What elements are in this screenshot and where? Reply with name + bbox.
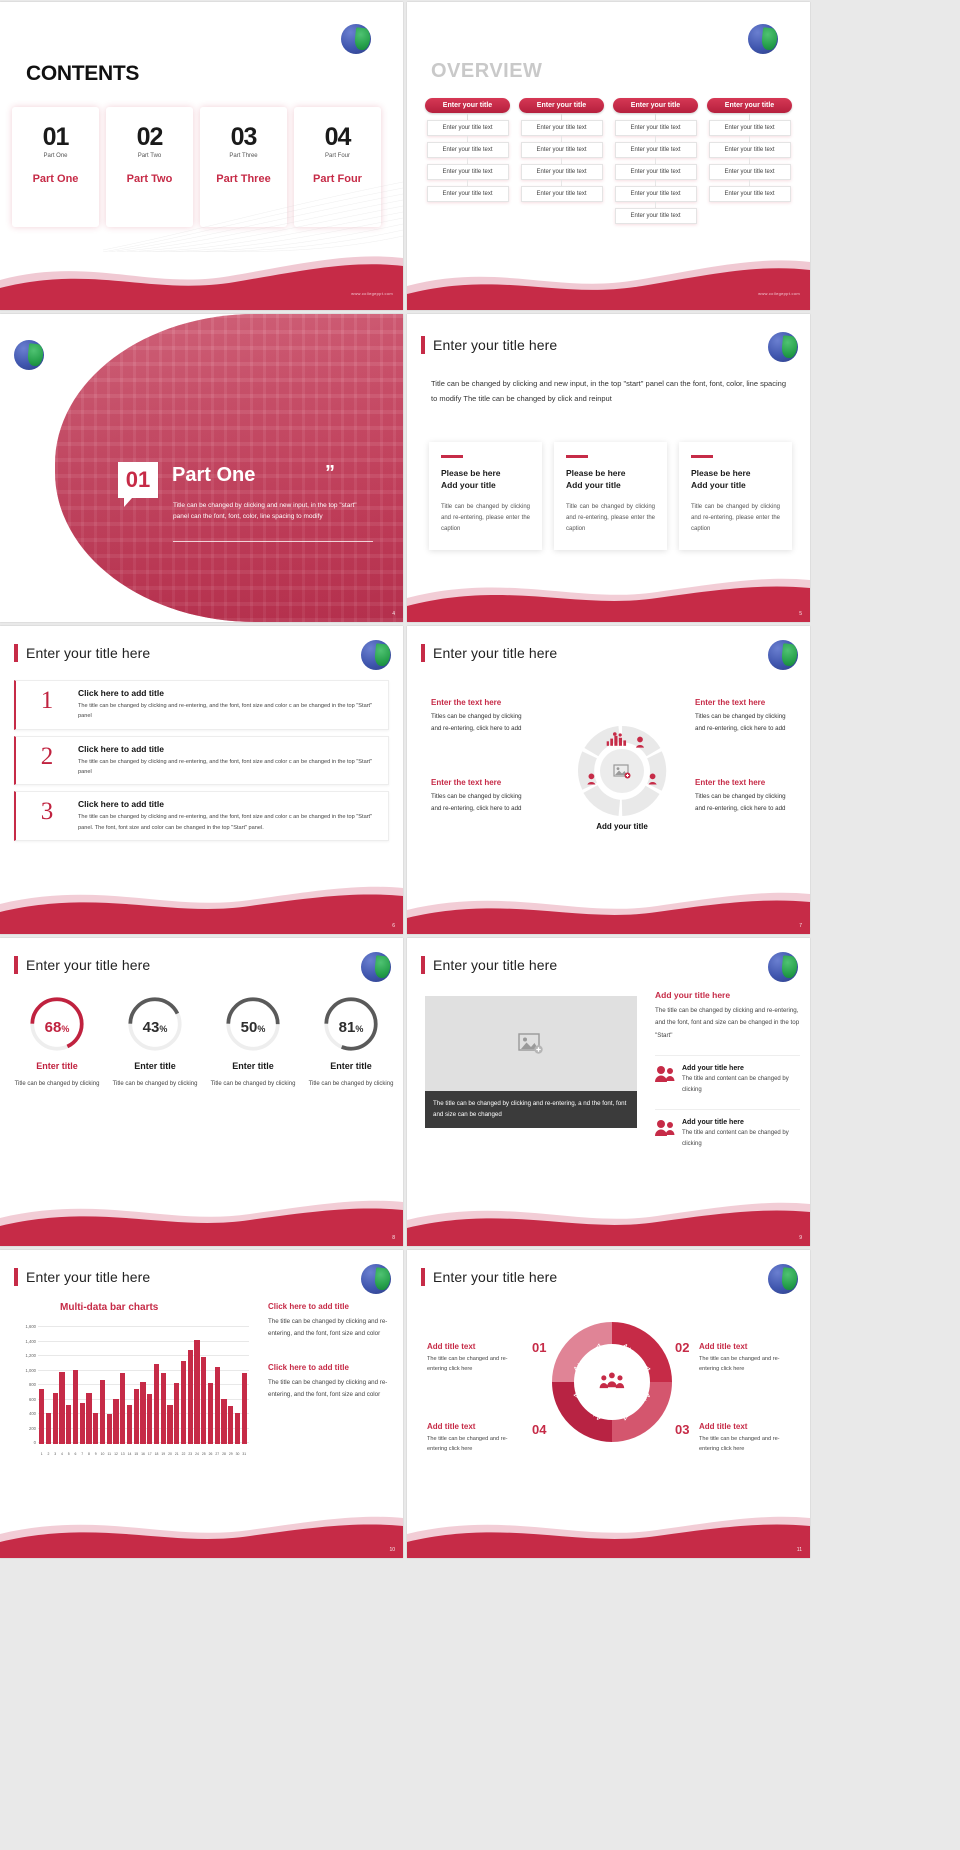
slide-cycle-diagram[interactable]: Enter your title here Add title text The… [407, 1250, 810, 1558]
card-heading-line-1: Please be here [566, 467, 655, 479]
x-tick-label: 20 [167, 1452, 172, 1456]
bar [228, 1406, 233, 1444]
overview-item[interactable]: Enter your title text [615, 120, 697, 136]
donut-chart [323, 996, 379, 1052]
bar [107, 1414, 112, 1444]
section-description: Title can be changed by clicking and new… [173, 500, 368, 523]
section-heading: Part One [172, 464, 255, 487]
overview-item[interactable]: Enter your title text [427, 120, 509, 136]
list-item[interactable]: 3 Click here to add title The title can … [14, 791, 389, 841]
bar [93, 1413, 98, 1444]
item-body: The title and content can be changed by … [682, 1074, 800, 1096]
x-tick-label: 9 [93, 1452, 98, 1456]
label-heading: Enter the text here [431, 698, 531, 707]
cycle-label-03[interactable]: Add title text The title can be changed … [699, 1422, 791, 1455]
x-tick-label: 14 [127, 1452, 132, 1456]
bar [113, 1399, 118, 1444]
bar [167, 1405, 172, 1444]
page-title: Enter your title here [421, 1268, 557, 1286]
card-subtitle: Part Two [106, 153, 193, 159]
page-number: 7 [799, 923, 802, 929]
bar [39, 1389, 44, 1444]
x-tick-label: 6 [73, 1452, 78, 1456]
bar-series [39, 1328, 247, 1444]
y-tick-label: 1,200 [14, 1353, 36, 1358]
right-column: Click here to add title The title can be… [268, 1302, 393, 1402]
contents-card[interactable]: 01 Part One Part One [12, 107, 99, 227]
overview-item[interactable]: Enter your title text [521, 164, 603, 180]
card-accent-dash [441, 455, 463, 458]
brand-logo-icon [14, 340, 44, 370]
overview-item[interactable]: Enter your title text [615, 186, 697, 202]
y-tick-label: 0 [14, 1440, 36, 1445]
info-card[interactable]: Please be here Add your title Title can … [679, 442, 792, 550]
x-tick-label: 19 [161, 1452, 166, 1456]
title-text: Enter your title here [26, 957, 150, 973]
overview-column: Enter your title Enter your title text E… [707, 98, 792, 224]
page-number: 5 [799, 611, 802, 617]
page-number: 11 [797, 1547, 802, 1553]
footer-wave [0, 1182, 403, 1246]
x-tick-label: 3 [53, 1452, 58, 1456]
label-heading: Add title text [427, 1422, 519, 1431]
overview-item[interactable]: Enter your title text [615, 208, 697, 224]
column-pill-button[interactable]: Enter your title [613, 98, 698, 113]
slide-percent-donuts[interactable]: Enter your title here 68 % Enter title T… [0, 938, 403, 1246]
bar-chart[interactable]: 1,6001,4001,2001,0008006004002000 123456… [14, 1326, 249, 1456]
x-tick-label: 29 [228, 1452, 233, 1456]
cycle-label-01[interactable]: Add title text The title can be changed … [427, 1342, 519, 1375]
donut-title: Enter title [106, 1061, 204, 1071]
bar [161, 1373, 166, 1444]
ring-center-label: Add your title [577, 822, 667, 831]
page-number: 8 [392, 1235, 395, 1241]
x-tick-label: 15 [134, 1452, 139, 1456]
page-title: Enter your title here [14, 644, 150, 662]
donut-title: Enter title [8, 1061, 106, 1071]
lead-paragraph: Title can be changed by clicking and new… [431, 376, 786, 406]
card-accent-dash [691, 455, 713, 458]
label-heading: Enter the text here [695, 778, 795, 787]
x-tick-label: 25 [201, 1452, 206, 1456]
ring-label-bottom-left: Enter the text here Titles can be change… [431, 778, 531, 816]
card-heading-line-1: Please be here [441, 467, 530, 479]
row-number: 1 [16, 688, 78, 713]
x-tick-label: 1 [39, 1452, 44, 1456]
slide-deck: CONTENTS 01 Part One Part One 02 Part Tw… [0, 0, 960, 1558]
donut-list: 68 % Enter title Title can be changed by… [8, 996, 400, 1090]
card-body: Title can be changed by clicking and re-… [691, 502, 780, 535]
x-tick-label: 5 [66, 1452, 71, 1456]
overview-column: Enter your title Enter your title text E… [613, 98, 698, 224]
x-tick-label: 22 [181, 1452, 186, 1456]
overview-item[interactable]: Enter your title text [615, 164, 697, 180]
overview-item[interactable]: Enter your title text [709, 120, 791, 136]
slide-numbered-list[interactable]: Enter your title here 1 Click here to ad… [0, 626, 403, 934]
slide-section-part-one[interactable]: 01 Part One ” Title can be changed by cl… [0, 314, 403, 622]
x-tick-label: 2 [46, 1452, 51, 1456]
column-pill-button[interactable]: Enter your title [707, 98, 792, 113]
overview-item[interactable]: Enter your title text [427, 164, 509, 180]
overview-item[interactable]: Enter your title text [521, 120, 603, 136]
cycle-number-04: 04 [532, 1422, 546, 1437]
label-body: The title can be changed and re-entering… [699, 1354, 791, 1375]
overview-column: Enter your title Enter your title text E… [519, 98, 604, 224]
overview-item[interactable]: Enter your title text [709, 142, 791, 158]
donut-title: Enter title [204, 1061, 302, 1071]
divider [173, 541, 373, 542]
x-tick-label: 28 [221, 1452, 226, 1456]
right-heading: Click here to add title [268, 1363, 393, 1372]
gridline [38, 1326, 249, 1327]
row-number: 2 [16, 744, 78, 769]
footer-url: www.collegeppt.com [758, 291, 800, 296]
label-body: Titles can be changed by clicking and re… [431, 791, 531, 816]
info-card[interactable]: Please be here Add your title Title can … [429, 442, 542, 550]
x-tick-label: 26 [208, 1452, 213, 1456]
footer-wave [407, 1494, 810, 1558]
column-pill-button[interactable]: Enter your title [519, 98, 604, 113]
x-tick-label: 18 [154, 1452, 159, 1456]
cycle-number-01: 01 [532, 1340, 546, 1355]
brand-logo-icon [768, 952, 798, 982]
overview-columns: Enter your title Enter your title text E… [425, 98, 792, 224]
page-number: 4 [392, 611, 395, 617]
overview-item[interactable]: Enter your title text [427, 142, 509, 158]
bar [59, 1372, 64, 1445]
bar [154, 1364, 159, 1444]
x-tick-label: 13 [120, 1452, 125, 1456]
title-accent-bar [14, 1268, 18, 1286]
donut-title: Enter title [302, 1061, 400, 1071]
card-heading-line-2: Add your title [441, 479, 530, 491]
cycle-label-02[interactable]: Add title text The title can be changed … [699, 1342, 791, 1375]
x-tick-label: 17 [147, 1452, 152, 1456]
row-body: The title can be changed by clicking and… [78, 812, 380, 833]
label-body: The title can be changed and re-entering… [699, 1434, 791, 1455]
bar [181, 1361, 186, 1444]
slide-three-cards[interactable]: Enter your title here Title can be chang… [407, 314, 810, 622]
footer-wave [407, 1182, 810, 1246]
title-accent-bar [14, 644, 18, 662]
card-subtitle: Part One [12, 153, 99, 159]
donut-desc: Title can be changed by clicking [302, 1079, 400, 1090]
x-tick-label: 7 [80, 1452, 85, 1456]
overview-item[interactable]: Enter your title text [709, 186, 791, 202]
bar [66, 1405, 71, 1444]
donut-desc: Title can be changed by clicking [106, 1079, 204, 1090]
footer-wave [0, 1494, 403, 1558]
y-tick-label: 800 [14, 1382, 36, 1387]
bar [194, 1340, 199, 1444]
person-icon [655, 1119, 675, 1150]
overview-item[interactable]: Enter your title text [521, 142, 603, 158]
donut-item[interactable]: 50 % Enter title Title can be changed by… [204, 996, 302, 1090]
brand-logo-icon [341, 24, 371, 54]
donut-item[interactable]: 68 % Enter title Title can be changed by… [8, 996, 106, 1090]
label-body: Titles can be changed by clicking and re… [695, 711, 795, 736]
picture-icon [518, 1033, 544, 1055]
ring-label-top-right: Enter the text here Titles can be change… [695, 698, 795, 736]
x-axis-ticks: 1234567891011121314151617181920212223242… [39, 1452, 247, 1456]
title-accent-bar [421, 644, 425, 662]
bar [100, 1380, 105, 1444]
bar [80, 1403, 85, 1444]
column-pill-button[interactable]: Enter your title [425, 98, 510, 113]
page-title: Enter your title here [421, 956, 557, 974]
page-number: 9 [799, 1235, 802, 1241]
footer-wave [407, 870, 810, 934]
label-heading: Add title text [427, 1342, 519, 1351]
card-number: 04 [294, 125, 381, 150]
label-body: The title can be changed and re-entering… [427, 1354, 519, 1375]
brand-logo-icon [361, 952, 391, 982]
right-body: The title can be changed by clicking and… [268, 1377, 393, 1402]
chart-title: Multi-data bar charts [60, 1302, 158, 1313]
bar [86, 1393, 91, 1444]
footer-wave [407, 246, 810, 310]
right-body: The title can be changed by clicking and… [655, 1005, 800, 1042]
title-text: Enter your title here [26, 645, 150, 661]
title-accent-bar [421, 956, 425, 974]
item-title: Add your title here [682, 1065, 800, 1072]
bar [134, 1389, 139, 1444]
label-heading: Enter the text here [695, 698, 795, 707]
cycle-label-04[interactable]: Add title text The title can be changed … [427, 1422, 519, 1455]
bar [188, 1350, 193, 1444]
row-title: Click here to add title [78, 799, 380, 809]
label-body: Titles can be changed by clicking and re… [431, 711, 531, 736]
right-heading: Click here to add title [268, 1302, 393, 1311]
right-column: Add your title here The title can be cha… [655, 990, 800, 1149]
x-tick-label: 12 [113, 1452, 118, 1456]
overview-item[interactable]: Enter your title text [521, 186, 603, 202]
page-title: OVERVIEW [431, 60, 542, 83]
slide-bar-chart[interactable]: Enter your title here Multi-data bar cha… [0, 1250, 403, 1558]
person-icon [655, 1065, 675, 1096]
row-body: The title can be changed by clicking and… [78, 757, 380, 778]
x-tick-label: 24 [194, 1452, 199, 1456]
item-title: Add your title here [682, 1119, 800, 1126]
donut-chart [29, 996, 85, 1052]
page-title: Enter your title here [421, 336, 557, 354]
x-tick-label: 27 [215, 1452, 220, 1456]
ring-label-bottom-right: Enter the text here Titles can be change… [695, 778, 795, 816]
brand-logo-icon [361, 1264, 391, 1294]
ring-chart[interactable] [577, 726, 667, 816]
donut-chart [225, 996, 281, 1052]
numbered-row-list: 1 Click here to add title The title can … [14, 680, 389, 847]
donut-desc: Title can be changed by clicking [204, 1079, 302, 1090]
label-heading: Enter the text here [431, 778, 531, 787]
page-title: CONTENTS [26, 62, 139, 86]
brand-logo-icon [361, 640, 391, 670]
bar [174, 1383, 179, 1444]
x-tick-label: 16 [140, 1452, 145, 1456]
donut-chart [127, 996, 183, 1052]
footer-url: www.collegeppt.com [351, 291, 393, 296]
bar [73, 1370, 78, 1444]
slide-image-and-list[interactable]: Enter your title here The title can be c… [407, 938, 810, 1246]
bar [242, 1373, 247, 1444]
donut-desc: Title can be changed by clicking [8, 1079, 106, 1090]
bar [120, 1373, 125, 1444]
title-text: Enter your title here [26, 1269, 150, 1285]
item-body: The title and content can be changed by … [682, 1128, 800, 1150]
y-tick-label: 1,400 [14, 1339, 36, 1344]
label-heading: Add title text [699, 1342, 791, 1351]
cycle-number-03: 03 [675, 1422, 689, 1437]
x-tick-label: 31 [242, 1452, 247, 1456]
brand-logo-icon [748, 24, 778, 54]
card-number: 01 [12, 125, 99, 150]
list-item[interactable]: Add your title here The title and conten… [655, 1055, 800, 1096]
image-caption: The title can be changed by clicking and… [425, 1091, 637, 1128]
slide-ring-diagram[interactable]: Enter your title here Enter the text her… [407, 626, 810, 934]
title-accent-bar [421, 1268, 425, 1286]
card-list: Please be here Add your title Title can … [429, 442, 792, 550]
list-item[interactable]: 1 Click here to add title The title can … [14, 680, 389, 730]
right-title: Add your title here [655, 990, 800, 1000]
slide-overview[interactable]: OVERVIEW Enter your title Enter your tit… [407, 2, 810, 310]
card-body: Title can be changed by clicking and re-… [441, 502, 530, 535]
bar [140, 1382, 145, 1444]
page-number: 6 [392, 923, 395, 929]
section-number: 01 [118, 462, 158, 498]
list-item[interactable]: 2 Click here to add title The title can … [14, 736, 389, 786]
card-number: 02 [106, 125, 193, 150]
bar [127, 1405, 132, 1444]
overview-item[interactable]: Enter your title text [427, 186, 509, 202]
x-tick-label: 11 [107, 1452, 112, 1456]
right-body: The title can be changed by clicking and… [268, 1316, 393, 1341]
quote-mark-icon: ” [325, 462, 335, 485]
bar [235, 1413, 240, 1444]
overview-item[interactable]: Enter your title text [615, 142, 697, 158]
y-tick-label: 200 [14, 1426, 36, 1431]
label-body: Titles can be changed by clicking and re… [695, 791, 795, 816]
card-accent-dash [566, 455, 588, 458]
image-placeholder[interactable] [425, 996, 637, 1091]
page-number: 10 [389, 1547, 395, 1553]
x-tick-label: 4 [59, 1452, 64, 1456]
bar [221, 1399, 226, 1444]
x-tick-label: 10 [100, 1452, 105, 1456]
brand-logo-icon [768, 1264, 798, 1294]
page-title: Enter your title here [421, 644, 557, 662]
donut-item[interactable]: 81 % Enter title Title can be changed by… [302, 996, 400, 1090]
footer-wave [0, 870, 403, 934]
title-text: Enter your title here [433, 645, 557, 661]
title-text: Enter your title here [433, 337, 557, 353]
title-text: Enter your title here [433, 1269, 557, 1285]
y-tick-label: 600 [14, 1397, 36, 1402]
row-title: Click here to add title [78, 688, 380, 698]
page-title: Enter your title here [14, 956, 150, 974]
title-accent-bar [421, 336, 425, 354]
bar [215, 1367, 220, 1444]
row-number: 3 [16, 799, 78, 824]
card-subtitle: Part Four [294, 153, 381, 159]
slide-contents[interactable]: CONTENTS 01 Part One Part One 02 Part Tw… [0, 2, 403, 310]
bar [46, 1413, 51, 1444]
bar [208, 1383, 213, 1444]
cycle-chart[interactable]: Add title text Add title text Add title … [552, 1322, 672, 1442]
brand-logo-icon [768, 640, 798, 670]
card-heading-line-2: Add your title [691, 479, 780, 491]
x-tick-label: 8 [86, 1452, 91, 1456]
bar [201, 1357, 206, 1444]
overview-item[interactable]: Enter your title text [709, 164, 791, 180]
card-body: Title can be changed by clicking and re-… [566, 502, 655, 535]
brand-logo-icon [768, 332, 798, 362]
y-tick-label: 1,600 [14, 1324, 36, 1329]
overview-column: Enter your title Enter your title text E… [425, 98, 510, 224]
title-text: Enter your title here [433, 957, 557, 973]
card-number: 03 [200, 125, 287, 150]
footer-wave [0, 246, 403, 310]
label-body: The title can be changed and re-entering… [427, 1434, 519, 1455]
ring-label-top-left: Enter the text here Titles can be change… [431, 698, 531, 736]
bar [147, 1394, 152, 1444]
x-tick-label: 23 [188, 1452, 193, 1456]
card-heading-line-2: Add your title [566, 479, 655, 491]
x-tick-label: 21 [174, 1452, 179, 1456]
footer-wave [407, 558, 810, 622]
cycle-number-02: 02 [675, 1340, 689, 1355]
bar [53, 1393, 58, 1444]
title-accent-bar [14, 956, 18, 974]
donut-item[interactable]: 43 % Enter title Title can be changed by… [106, 996, 204, 1090]
row-title: Click here to add title [78, 744, 380, 754]
list-item[interactable]: Add your title here The title and conten… [655, 1109, 800, 1150]
row-body: The title can be changed by clicking and… [78, 701, 380, 722]
y-tick-label: 400 [14, 1411, 36, 1416]
label-heading: Add title text [699, 1422, 791, 1431]
page-title: Enter your title here [14, 1268, 150, 1286]
info-card[interactable]: Please be here Add your title Title can … [554, 442, 667, 550]
y-tick-label: 1,000 [14, 1368, 36, 1373]
x-tick-label: 30 [235, 1452, 240, 1456]
decor-lines [103, 172, 403, 252]
card-subtitle: Part Three [200, 153, 287, 159]
card-heading-line-1: Please be here [691, 467, 780, 479]
card-label: Part One [12, 173, 99, 185]
